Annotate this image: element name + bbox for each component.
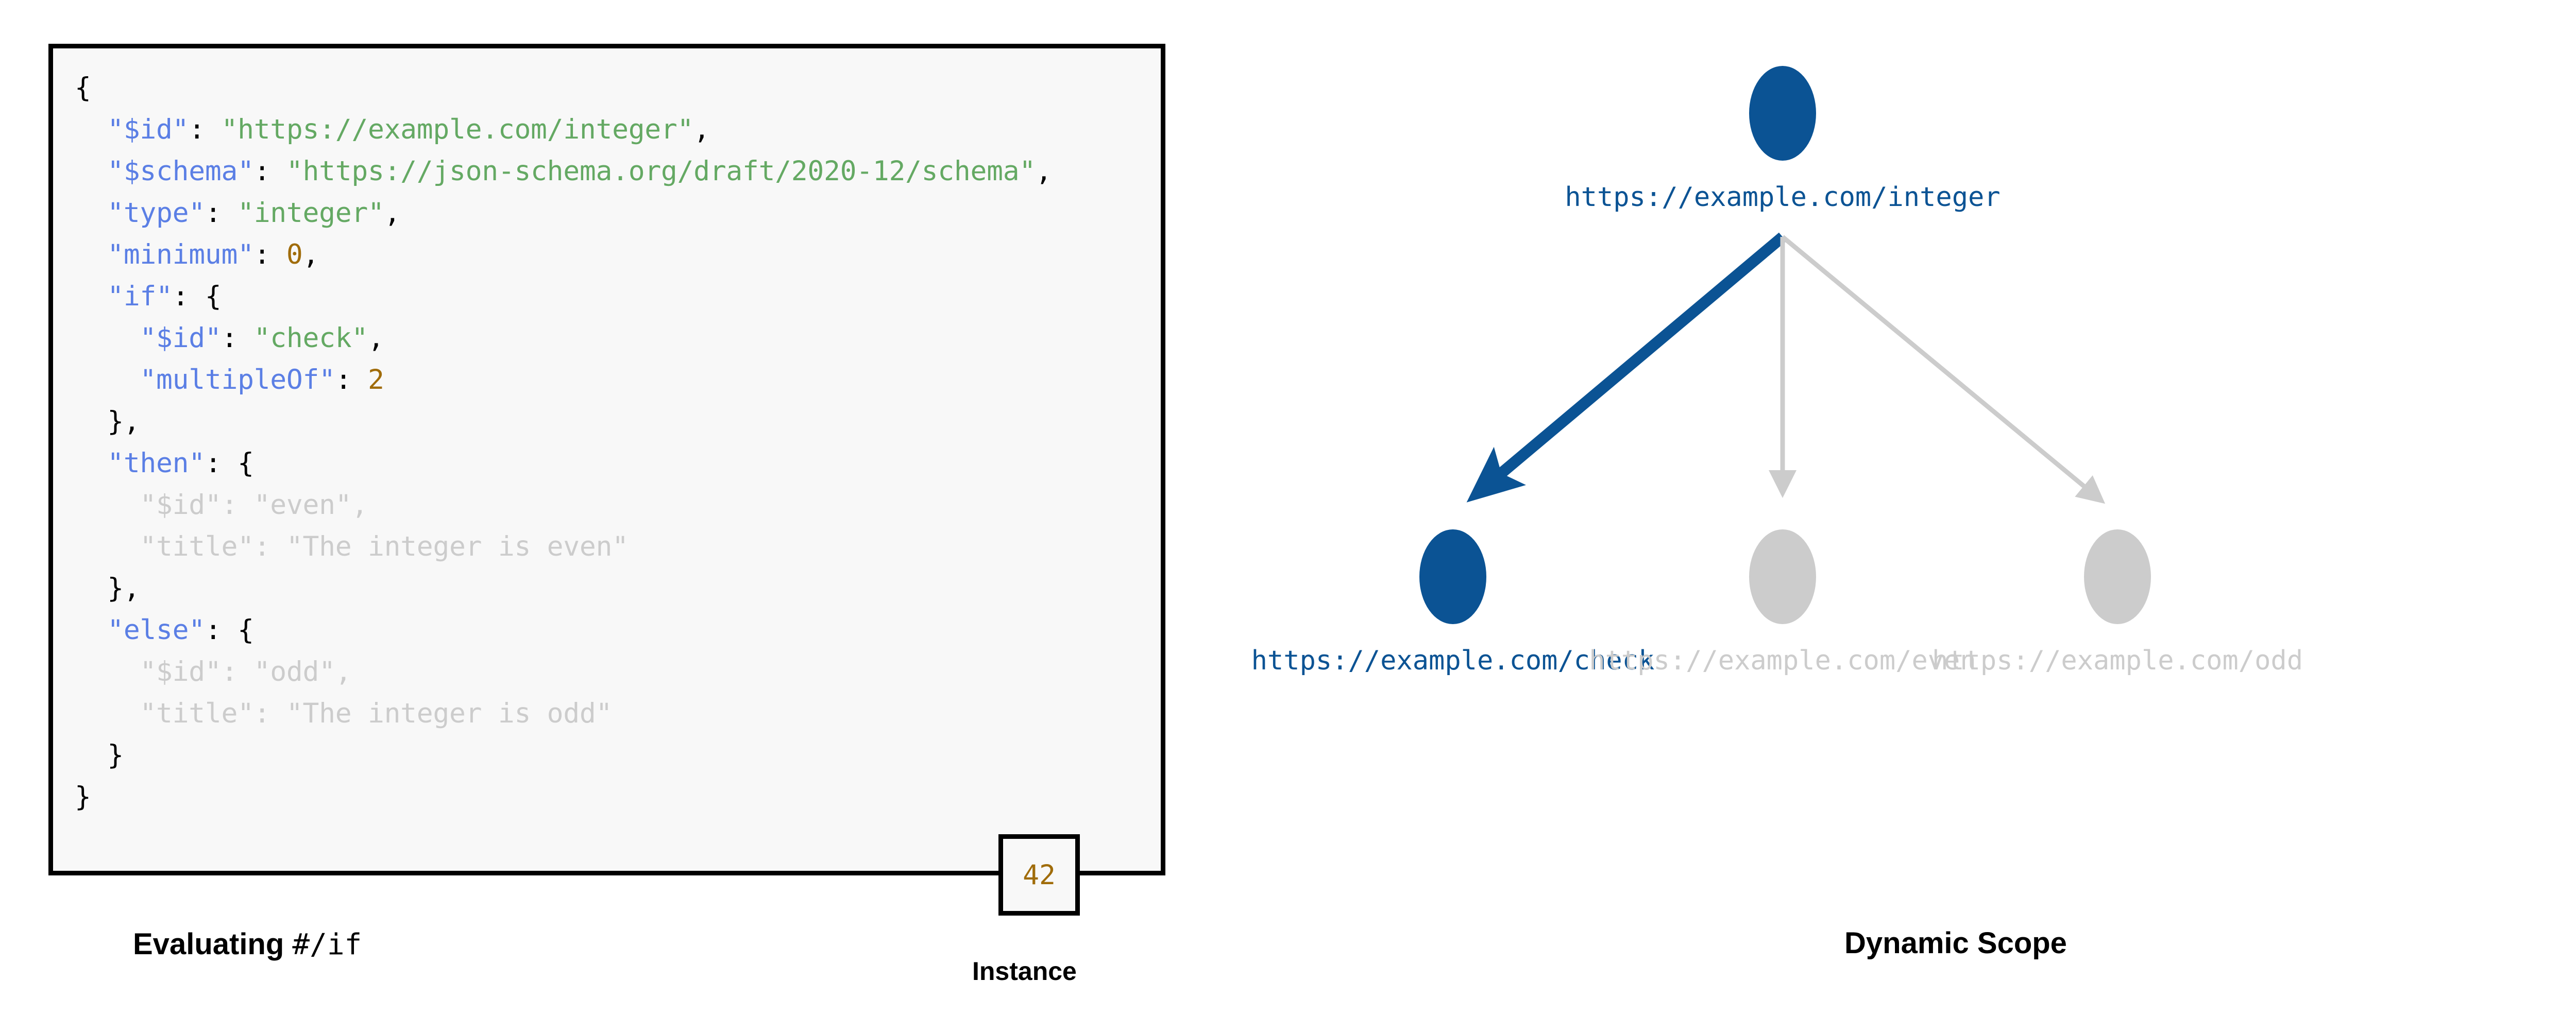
code-token-key: "then" <box>107 447 205 479</box>
code-token-str: "integer" <box>238 197 384 229</box>
code-token-punct: : { <box>173 281 222 312</box>
schema-panel: { "$id": "https://example.com/integer", … <box>48 44 1165 875</box>
code-token-punct <box>75 364 140 395</box>
scope-node-integer[interactable] <box>1749 66 1816 161</box>
scope-node-odd[interactable] <box>2084 529 2151 624</box>
code-token-punct: , <box>384 197 401 229</box>
dynamic-scope-caption: Dynamic Scope <box>1844 926 2067 960</box>
code-token-punct <box>75 239 107 270</box>
code-token-key: "type" <box>107 197 205 229</box>
code-token-punct <box>75 447 107 479</box>
code-token-punct <box>75 614 107 646</box>
scope-node-check[interactable] <box>1419 529 1486 624</box>
code-token-punct <box>75 322 140 354</box>
scope-nodes <box>1419 66 2151 624</box>
code-token-punct: } <box>75 781 91 813</box>
code-line: "$id": "odd", <box>75 651 1052 693</box>
code-token-key: "$id" <box>140 322 221 354</box>
code-token-key: "$id" <box>140 489 221 521</box>
code-token-key: "minimum" <box>107 239 253 270</box>
code-token-str: "The integer is even" <box>286 531 629 562</box>
code-token-punct: : <box>189 114 221 145</box>
code-token-str: "check" <box>254 322 368 354</box>
code-token-punct: { <box>75 72 91 104</box>
code-token-punct: , <box>693 114 710 145</box>
instance-caption: Instance <box>972 956 1077 986</box>
code-line: "multipleOf": 2 <box>75 359 1052 401</box>
scope-edge-integer-to-odd <box>1783 237 2102 501</box>
code-token-punct <box>75 531 140 562</box>
code-token-str: "https://json-schema.org/draft/2020-12/s… <box>286 156 1036 187</box>
code-line: "$id": "https://example.com/integer", <box>75 109 1052 150</box>
code-line: "$schema": "https://json-schema.org/draf… <box>75 150 1052 192</box>
code-line: } <box>75 734 1052 776</box>
code-line: } <box>75 776 1052 818</box>
code-token-key: "else" <box>107 614 205 646</box>
code-token-key: "$id" <box>107 114 189 145</box>
code-line: "then": { <box>75 442 1052 484</box>
scope-graph-svg: https://example.com/integerhttps://examp… <box>1211 31 2576 917</box>
scope-edges <box>1481 237 2102 501</box>
code-token-punct: : { <box>205 614 254 646</box>
code-token-punct <box>75 281 107 312</box>
code-line: "$id": "check", <box>75 317 1052 359</box>
code-line: "minimum": 0, <box>75 234 1052 276</box>
code-token-key: "multipleOf" <box>140 364 335 395</box>
code-line: "if": { <box>75 276 1052 317</box>
scope-node-label-even: https://example.com/even <box>1589 645 1976 676</box>
schema-json-code: { "$id": "https://example.com/integer", … <box>75 67 1052 818</box>
code-token-punct: } <box>75 739 124 771</box>
code-line: "type": "integer", <box>75 192 1052 234</box>
scope-edge-integer-to-check <box>1481 237 1783 491</box>
code-line: "title": "The integer is even" <box>75 526 1052 567</box>
code-token-punct: , <box>1036 156 1052 187</box>
instance-value: 42 <box>1023 859 1056 891</box>
code-token-punct: , <box>303 239 319 270</box>
code-token-punct <box>75 156 107 187</box>
code-token-str: "The integer is odd" <box>286 698 612 729</box>
code-token-punct <box>75 656 140 687</box>
code-token-key: "if" <box>107 281 172 312</box>
code-token-punct: : <box>221 489 253 521</box>
code-token-punct: : <box>254 239 286 270</box>
evaluating-caption-prefix: Evaluating <box>133 927 292 961</box>
code-token-punct: : <box>254 531 286 562</box>
code-token-punct: }, <box>75 573 140 604</box>
code-token-punct: : { <box>205 447 254 479</box>
scope-node-label-integer: https://example.com/integer <box>1565 182 2000 213</box>
code-token-punct <box>75 698 140 729</box>
code-token-punct: : <box>254 698 286 729</box>
code-line: "else": { <box>75 609 1052 651</box>
code-token-punct <box>75 114 107 145</box>
code-token-punct: : <box>205 197 238 229</box>
code-token-str: "odd" <box>254 656 335 687</box>
code-token-punct: : <box>335 364 368 395</box>
dynamic-scope-diagram: https://example.com/integerhttps://examp… <box>1211 31 2576 917</box>
code-token-punct: : <box>221 656 253 687</box>
evaluating-caption: Evaluating #/if <box>133 927 362 961</box>
code-token-punct: : <box>254 156 286 187</box>
scope-node-even[interactable] <box>1749 529 1816 624</box>
scope-node-label-odd: https://example.com/odd <box>1932 645 2303 676</box>
code-token-str: "https://example.com/integer" <box>221 114 693 145</box>
code-line: "title": "The integer is odd" <box>75 693 1052 734</box>
code-line: "$id": "even", <box>75 484 1052 526</box>
code-token-num: 0 <box>286 239 303 270</box>
code-line: }, <box>75 401 1052 442</box>
code-token-key: "title" <box>140 531 253 562</box>
code-token-punct: : <box>221 322 253 354</box>
code-token-punct <box>75 489 140 521</box>
evaluating-caption-pointer: #/if <box>292 928 362 961</box>
code-line: { <box>75 67 1052 109</box>
code-token-punct: , <box>351 489 368 521</box>
code-line: }, <box>75 567 1052 609</box>
code-token-key: "title" <box>140 698 253 729</box>
code-token-punct: }, <box>75 406 140 437</box>
code-token-punct: , <box>368 322 384 354</box>
code-token-num: 2 <box>368 364 384 395</box>
code-token-punct <box>75 197 107 229</box>
code-token-key: "$id" <box>140 656 221 687</box>
code-token-key: "$schema" <box>107 156 253 187</box>
code-token-str: "even" <box>254 489 352 521</box>
code-token-punct: , <box>335 656 352 687</box>
instance-box: 42 <box>998 834 1080 916</box>
